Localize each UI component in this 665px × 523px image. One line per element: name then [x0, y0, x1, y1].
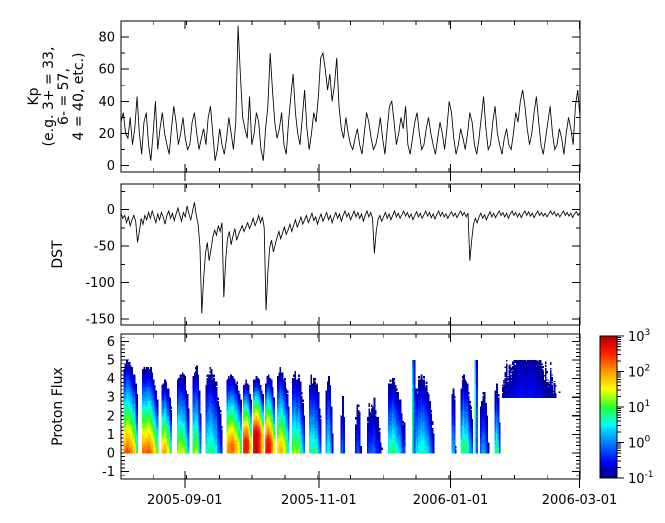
- y-tick-label: 6: [107, 335, 115, 350]
- y-tick-label: 60: [98, 63, 115, 78]
- figure-root: Kp(e.g. 3+ = 33,6- = 57,4 = 40, etc.) 02…: [0, 0, 665, 523]
- y-tick-label: 0: [107, 159, 115, 174]
- y-tick-label: 80: [98, 31, 115, 46]
- flux-axis-title: Proton Flux: [50, 367, 66, 446]
- y-tick-label: -100: [85, 276, 115, 291]
- y-tick-label: 40: [98, 95, 115, 110]
- flux-axis-title-text: Proton Flux: [50, 367, 66, 446]
- y-tick-label: 3: [107, 391, 115, 406]
- y-tick-label: -50: [94, 240, 115, 255]
- colorbar-gradient: [600, 336, 617, 478]
- x-tick-label: 2005-09-01: [147, 493, 223, 508]
- y-tick-label: 4: [107, 372, 115, 387]
- x-tick-label: 2005-11-01: [281, 493, 357, 508]
- multi-panel-plot: Kp(e.g. 3+ = 33,6- = 57,4 = 40, etc.) 02…: [0, 0, 665, 523]
- kp-axis-title-line: 4 = 40, etc.): [71, 53, 87, 141]
- kp-axis-title-line: Kp: [26, 87, 42, 105]
- dst-axis-title: DST: [50, 240, 66, 269]
- y-tick-label: 20: [98, 127, 115, 142]
- dst-axis-title-text: DST: [50, 240, 66, 269]
- y-tick-label: 5: [107, 354, 115, 369]
- y-tick-label: -1: [102, 465, 115, 480]
- y-tick-label: 2: [107, 409, 115, 424]
- kp-axis-title-line: 6- = 57,: [56, 68, 72, 125]
- y-tick-label: 0: [107, 203, 115, 218]
- x-tick-label: 2006-01-01: [413, 493, 489, 508]
- y-tick-label: 1: [107, 428, 115, 443]
- y-tick-label: 0: [107, 446, 115, 461]
- kp-axis-title-line: (e.g. 3+ = 33,: [41, 47, 57, 147]
- y-tick-label: -150: [85, 313, 115, 328]
- x-tick-label: 2006-03-01: [542, 493, 618, 508]
